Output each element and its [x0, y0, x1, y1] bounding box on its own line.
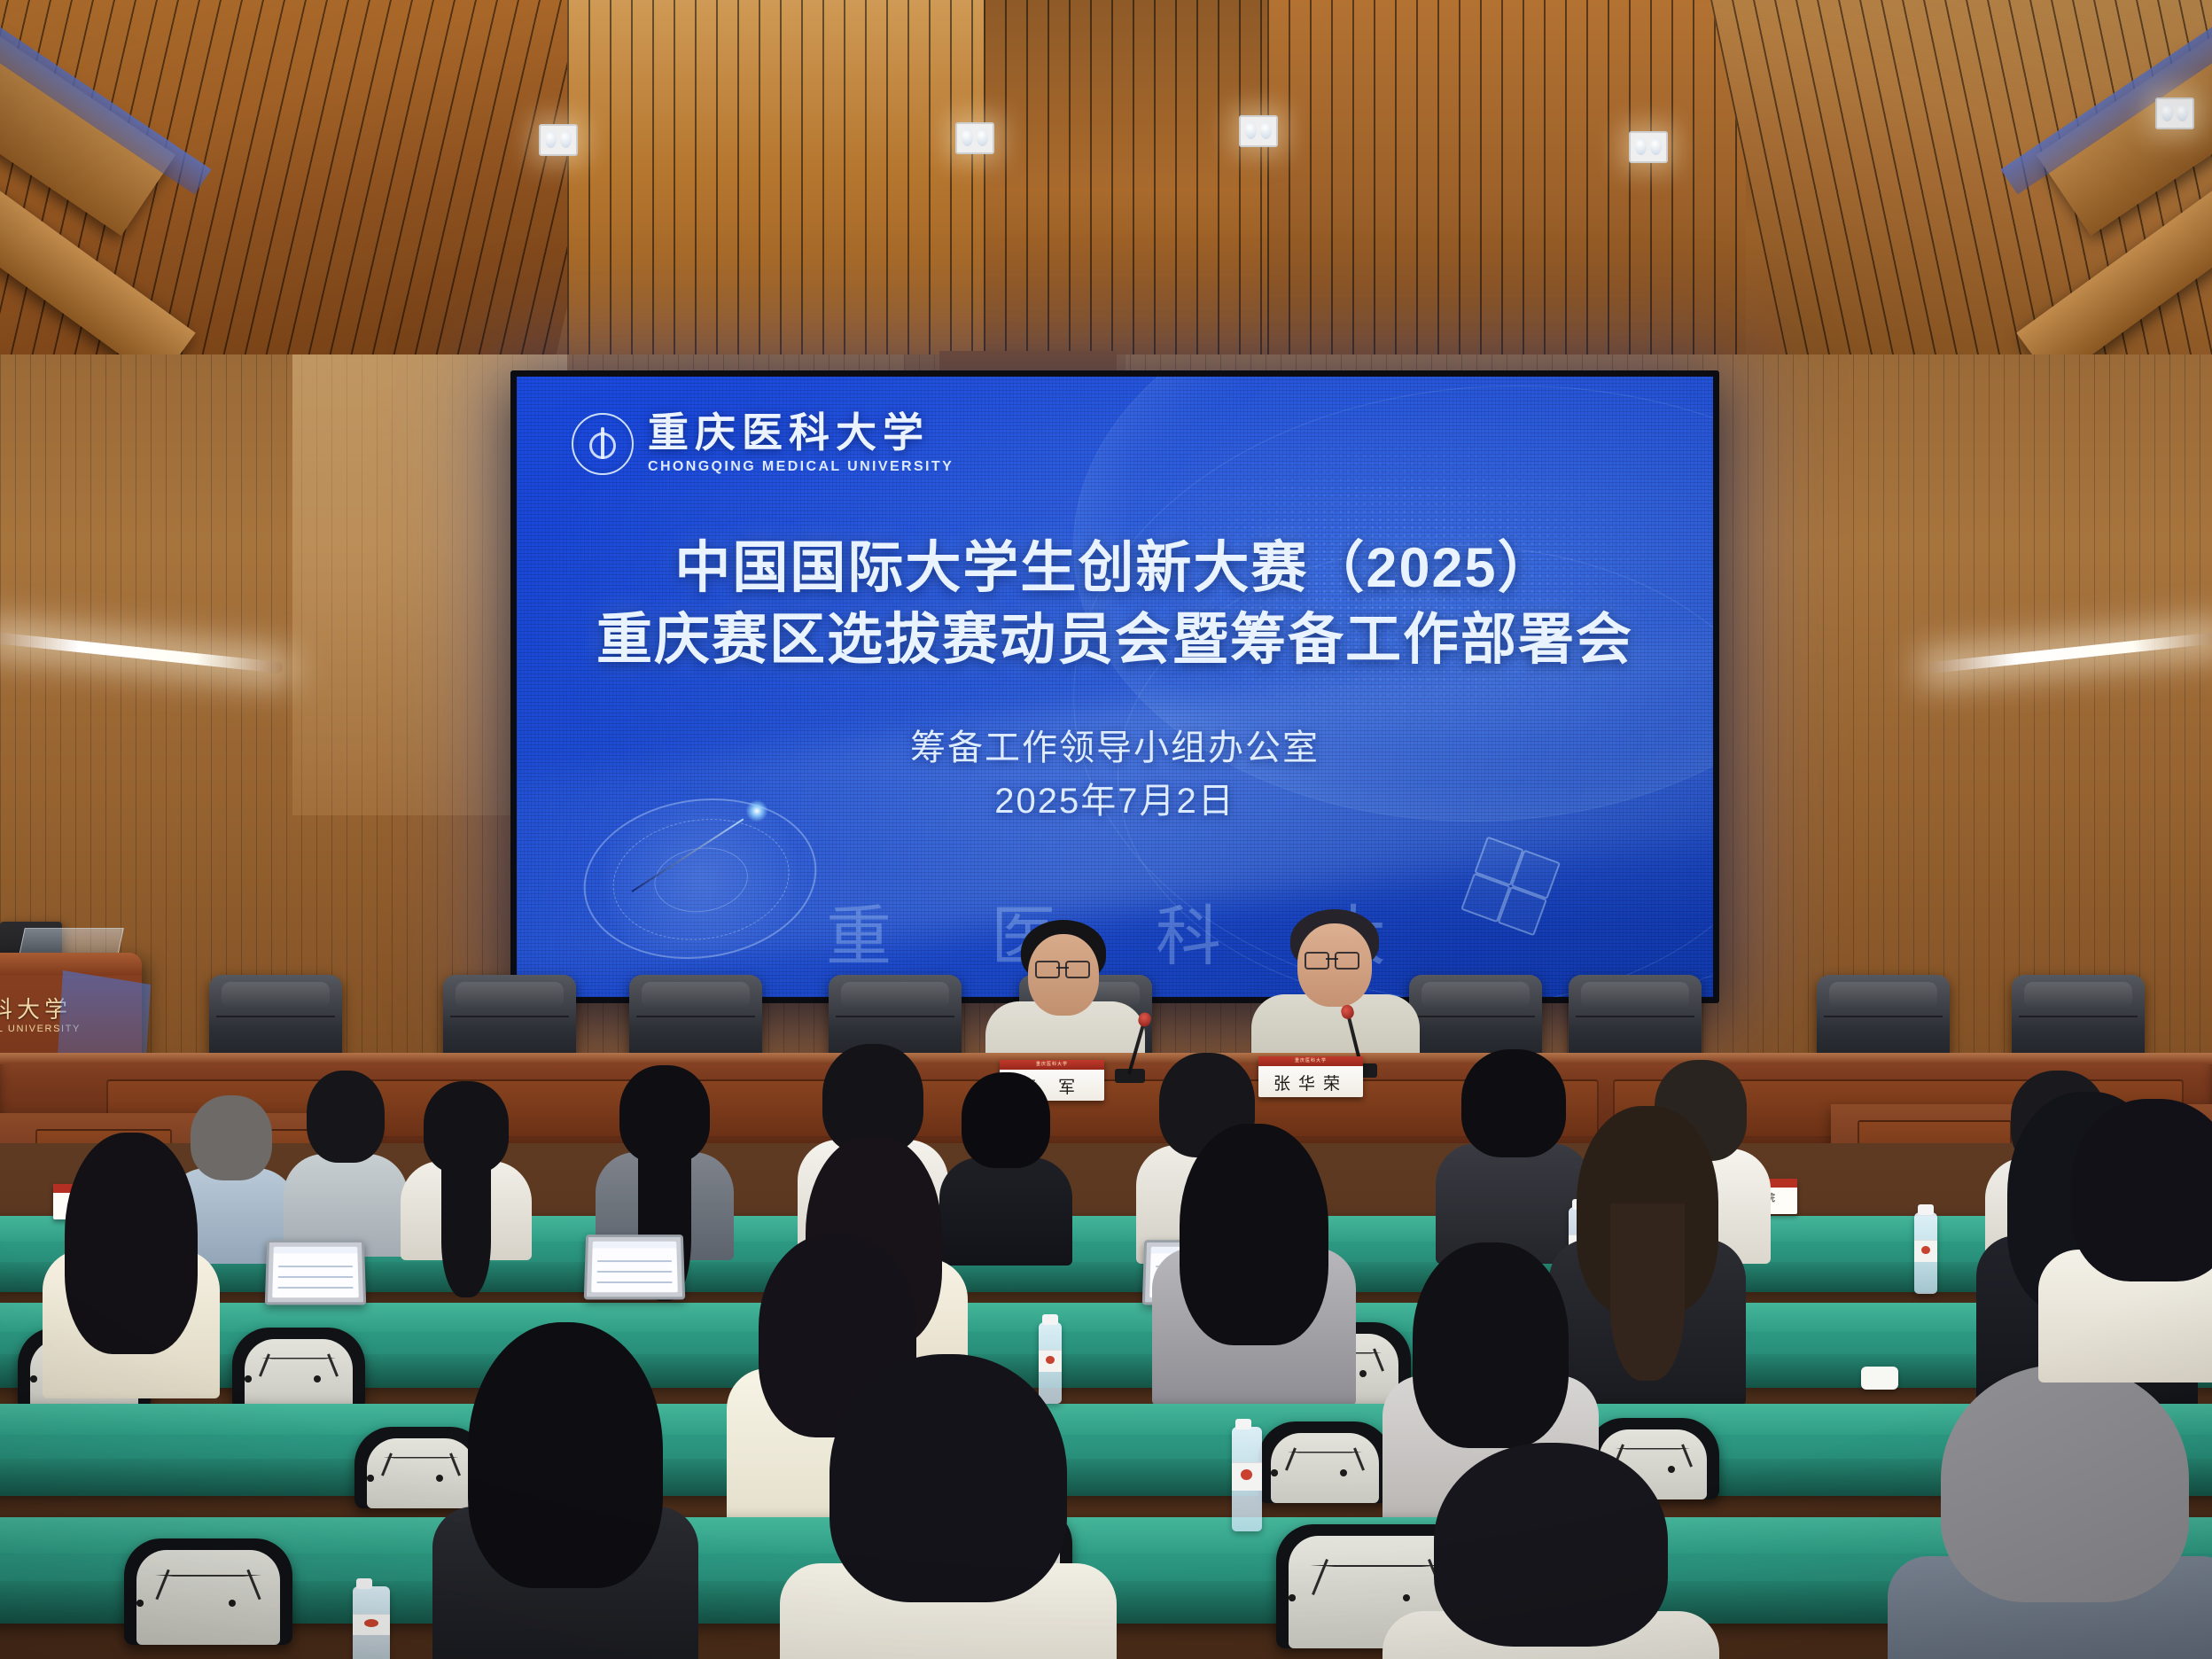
attendee [43, 1133, 220, 1390]
attendee-ponytail [441, 1164, 491, 1297]
ceiling-panel-midleft [567, 0, 1028, 381]
university-seal-icon [572, 413, 634, 475]
attendee-hair [2071, 1099, 2212, 1281]
audience-seat [124, 1538, 292, 1645]
water-bottle [353, 1586, 390, 1659]
attendee [1152, 1124, 1356, 1395]
ceiling-panel-mid [984, 0, 1303, 381]
nameplate-org: 重庆医科大学 [1000, 1060, 1104, 1070]
attendee [401, 1079, 532, 1257]
university-logo: 重庆医科大学 CHONGQING MEDICAL UNIVERSITY [572, 412, 954, 475]
attendee-hair [619, 1065, 710, 1163]
downlight-icon [955, 122, 994, 154]
laptop [584, 1235, 685, 1299]
attendee-hair [829, 1354, 1067, 1602]
attendee [2038, 1099, 2212, 1365]
led-presentation-screen: 重庆医科大学 CHONGQING MEDICAL UNIVERSITY 中国国际… [510, 370, 1719, 1003]
attendee-hair [424, 1081, 509, 1173]
logo-name-en: CHONGQING MEDICAL UNIVERSITY [648, 459, 954, 475]
presenter-right-glasses-icon [1305, 952, 1359, 967]
ceiling-panel-midright [1267, 0, 1746, 381]
ceiling [0, 0, 2212, 381]
attendee-hair [1413, 1242, 1569, 1448]
downlight-icon [1239, 115, 1278, 147]
attendee-ponytail [1610, 1203, 1685, 1381]
attendee-hair [1180, 1124, 1328, 1345]
slide-text-block: 中国国际大学生创新大赛（2025） 重庆赛区选拔赛动员会暨筹备工作部署会 筹备工… [517, 533, 1713, 828]
laptop [265, 1240, 366, 1305]
downlight-icon [1629, 131, 1668, 163]
presenter-left-glasses-icon [1035, 961, 1090, 976]
head-table-edge [0, 1053, 2212, 1064]
audience-seat [1258, 1421, 1391, 1503]
attendee-foreground [780, 1354, 1117, 1659]
attendee-hair [307, 1071, 385, 1163]
attendee-hair [1434, 1443, 1668, 1647]
attendee-hair [65, 1133, 198, 1354]
conference-hall-photo: 重庆医科大学 CHONGQING MEDICAL UNIVERSITY 中国国际… [0, 0, 2212, 1659]
attendee-hair [468, 1322, 663, 1588]
downlight-icon [2155, 97, 2194, 129]
water-bottle [1914, 1212, 1937, 1294]
attendee [596, 1065, 734, 1257]
attendee-foreground [1888, 1365, 2212, 1659]
slide-subtitle-date: 2025年7月2日 [517, 775, 1713, 828]
slide-title-line-2: 重庆赛区选拔赛动员会暨筹备工作部署会 [517, 604, 1713, 676]
downlight-icon [539, 124, 578, 156]
water-bottle [1232, 1427, 1262, 1531]
attendee-hair [1941, 1365, 2189, 1602]
nameplate-org-bar: 重庆医科大学 [1000, 1060, 1104, 1070]
audience-seat [232, 1328, 365, 1409]
attendee-hair [962, 1072, 1050, 1168]
slide-subtitle-org: 筹备工作领导小组办公室 [517, 721, 1713, 775]
slide-title-line-1: 中国国际大学生创新大赛（2025） [517, 533, 1713, 604]
attendee-foreground [1382, 1443, 1719, 1659]
attendee [284, 1071, 408, 1257]
attendee-foreground [432, 1322, 698, 1659]
logo-name-cn: 重庆医科大学 [648, 412, 954, 453]
